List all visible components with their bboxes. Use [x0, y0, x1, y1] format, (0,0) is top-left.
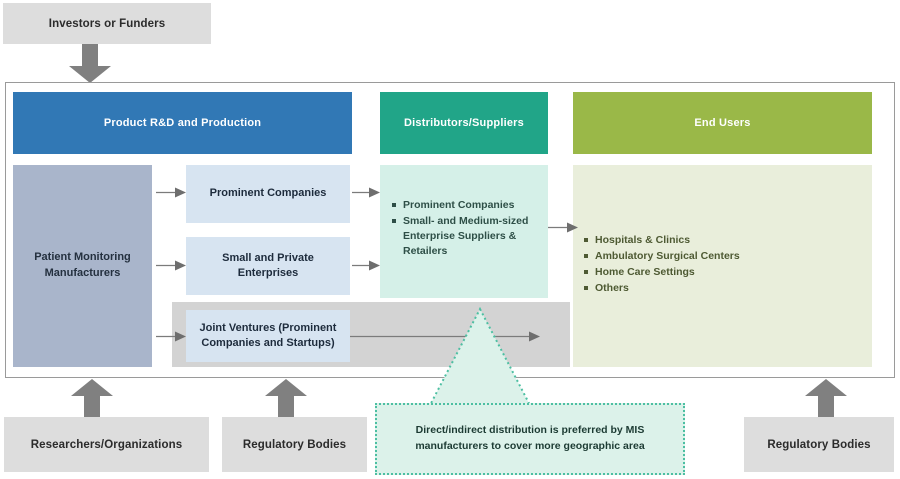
investors-or-funders-label: Investors or Funders [49, 18, 165, 30]
regulatory-bodies-center-box: Regulatory Bodies [222, 417, 367, 472]
connector-small-private-to-distributors [352, 260, 380, 271]
arrow-regulatory-right-to-frame [804, 378, 848, 418]
list-item: Home Care Settings [584, 265, 864, 280]
connector-prominent-to-distributors [352, 187, 380, 198]
researchers-organizations-label: Researchers/Organizations [31, 439, 182, 451]
small-private-enterprises-label: Small and Private Enterprises [192, 251, 344, 282]
connector-joint-ventures-to-end-users [350, 331, 540, 342]
list-item: Small- and Medium-sized Enterprise Suppl… [392, 214, 540, 259]
list-item: Ambulatory Surgical Centers [584, 249, 864, 264]
arrow-researchers-to-frame [70, 378, 114, 418]
list-item: Prominent Companies [392, 198, 540, 213]
column-header-end-users: End Users [573, 92, 872, 154]
joint-ventures-label: Joint Ventures (Prominent Companies and … [192, 321, 344, 352]
patient-monitoring-manufacturers-box: Patient Monitoring Manufacturers [13, 165, 152, 367]
column-header-product-rd-label: Product R&D and Production [104, 117, 261, 129]
regulatory-bodies-right-label: Regulatory Bodies [767, 439, 870, 451]
column-header-distributors-label: Distributors/Suppliers [404, 117, 524, 129]
list-item: Hospitals & Clinics [584, 233, 864, 248]
column-header-product-rd: Product R&D and Production [13, 92, 352, 154]
distributors-panel: Prominent Companies Small- and Medium-si… [380, 165, 548, 298]
callout-box: Direct/indirect distribution is preferre… [375, 403, 685, 475]
patient-monitoring-manufacturers-label: Patient Monitoring Manufacturers [21, 250, 144, 282]
joint-ventures-box: Joint Ventures (Prominent Companies and … [186, 310, 350, 362]
investors-or-funders-box: Investors or Funders [3, 3, 211, 44]
researchers-organizations-box: Researchers/Organizations [4, 417, 209, 472]
regulatory-bodies-right-box: Regulatory Bodies [744, 417, 894, 472]
end-users-panel: Hospitals & Clinics Ambulatory Surgical … [573, 165, 872, 367]
column-header-distributors: Distributors/Suppliers [380, 92, 548, 154]
column-header-end-users-label: End Users [694, 117, 750, 129]
list-item: Others [584, 281, 864, 296]
arrow-investors-to-frame [68, 44, 112, 84]
distributors-list: Prominent Companies Small- and Medium-si… [392, 198, 540, 260]
connector-manufacturers-to-small-private [156, 260, 186, 271]
callout-text: Direct/indirect distribution is preferre… [387, 423, 673, 455]
prominent-companies-box: Prominent Companies [186, 165, 350, 223]
connector-manufacturers-to-joint-ventures [156, 331, 186, 342]
arrow-regulatory-center-to-frame [264, 378, 308, 418]
regulatory-bodies-center-label: Regulatory Bodies [243, 439, 346, 451]
connector-distributors-to-end-users [548, 222, 578, 233]
end-users-list: Hospitals & Clinics Ambulatory Surgical … [584, 233, 864, 297]
connector-manufacturers-to-prominent [156, 187, 186, 198]
prominent-companies-label: Prominent Companies [210, 186, 327, 201]
small-private-enterprises-box: Small and Private Enterprises [186, 237, 350, 295]
